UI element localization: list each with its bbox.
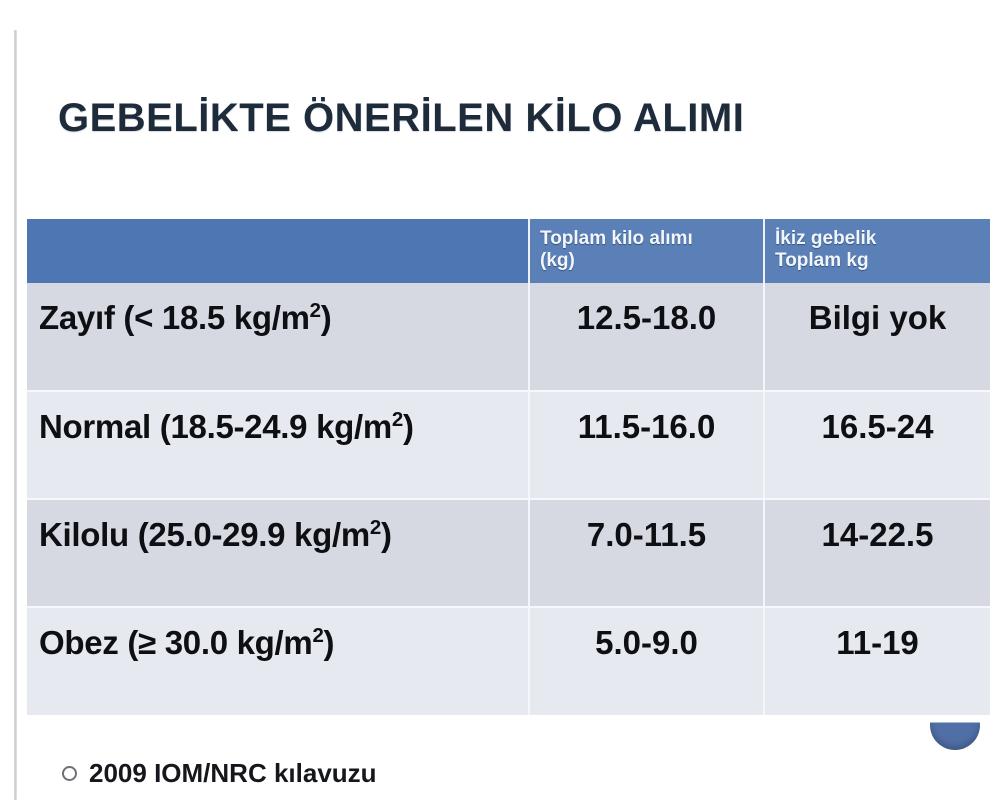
category-name: Zayıf (39, 299, 115, 336)
column-header-twin-gain: İkiz gebelik Toplam kg (764, 219, 990, 283)
category-superscript: 2 (312, 624, 323, 647)
cell-category: Zayıf (< 18.5 kg/m2) (27, 283, 529, 391)
category-range: (18.5-24.9 kg/m (160, 408, 392, 445)
category-superscript: 2 (370, 516, 381, 539)
category-suffix: ) (403, 408, 414, 445)
column-header-category (27, 219, 529, 283)
column-header-total-gain: Toplam kilo alımı (kg) (529, 219, 764, 283)
table-row: Normal (18.5-24.9 kg/m2) 11.5-16.0 16.5-… (27, 391, 990, 499)
cell-twin-gain: 14-22.5 (764, 499, 990, 607)
column-header-twin-gain-line2: Toplam kg (775, 250, 981, 272)
weight-gain-table: Toplam kilo alımı (kg) İkiz gebelik Topl… (27, 219, 990, 715)
column-header-total-gain-line1: Toplam kilo alımı (540, 228, 754, 250)
slide: GEBELİKTE ÖNERİLEN KİLO ALIMI Toplam kil… (0, 0, 1003, 800)
cell-category: Normal (18.5-24.9 kg/m2) (27, 391, 529, 499)
cell-total-gain: 11.5-16.0 (529, 391, 764, 499)
table-row: Obez (≥ 30.0 kg/m2) 5.0-9.0 11-19 (27, 607, 990, 715)
cell-twin-gain: Bilgi yok (764, 283, 990, 391)
column-header-total-gain-line2: (kg) (540, 250, 754, 272)
category-name: Kilolu (39, 516, 129, 553)
category-name: Obez (39, 624, 118, 661)
cell-category: Kilolu (25.0-29.9 kg/m2) (27, 499, 529, 607)
category-superscript: 2 (392, 408, 403, 431)
table-body: Zayıf (< 18.5 kg/m2) 12.5-18.0 Bilgi yok… (27, 283, 990, 715)
category-range: (25.0-29.9 kg/m (138, 516, 370, 553)
category-suffix: ) (381, 516, 392, 553)
circle-outline-icon (62, 766, 77, 781)
cell-category: Obez (≥ 30.0 kg/m2) (27, 607, 529, 715)
category-range: (< 18.5 kg/m (123, 299, 309, 336)
category-suffix: ) (321, 299, 332, 336)
left-margin-rule (14, 30, 17, 800)
table-row: Zayıf (< 18.5 kg/m2) 12.5-18.0 Bilgi yok (27, 283, 990, 391)
table-header-row: Toplam kilo alımı (kg) İkiz gebelik Topl… (27, 219, 990, 283)
cell-total-gain: 12.5-18.0 (529, 283, 764, 391)
column-header-twin-gain-line1: İkiz gebelik (775, 228, 981, 250)
source-footnote: 2009 IOM/NRC kılavuzu (62, 758, 377, 789)
category-name: Normal (39, 408, 151, 445)
source-footnote-text: 2009 IOM/NRC kılavuzu (89, 758, 377, 789)
cell-twin-gain: 11-19 (764, 607, 990, 715)
weight-gain-table-container: Toplam kilo alımı (kg) İkiz gebelik Topl… (27, 219, 990, 722)
table-header: Toplam kilo alımı (kg) İkiz gebelik Topl… (27, 219, 990, 283)
cell-total-gain: 7.0-11.5 (529, 499, 764, 607)
category-range: (≥ 30.0 kg/m (127, 624, 312, 661)
page-title: GEBELİKTE ÖNERİLEN KİLO ALIMI (58, 96, 744, 141)
table-row: Kilolu (25.0-29.9 kg/m2) 7.0-11.5 14-22.… (27, 499, 990, 607)
category-superscript: 2 (310, 299, 321, 322)
cell-total-gain: 5.0-9.0 (529, 607, 764, 715)
cell-twin-gain: 16.5-24 (764, 391, 990, 499)
category-suffix: ) (324, 624, 335, 661)
